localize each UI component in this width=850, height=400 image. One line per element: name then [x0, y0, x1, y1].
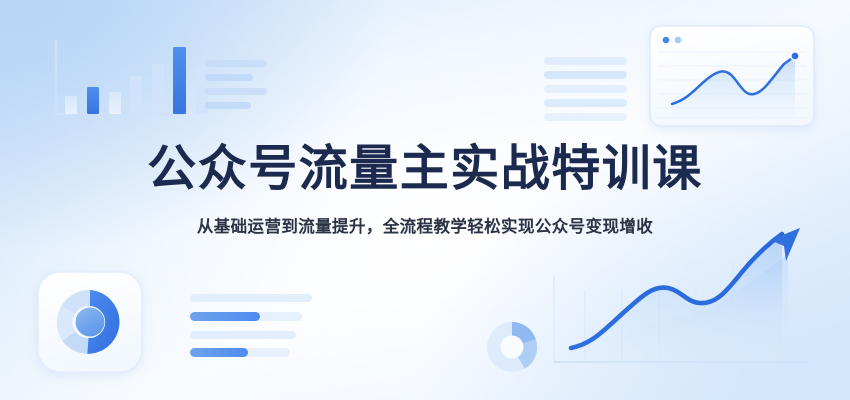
page-subtitle: 从基础运营到流量提升，全流程教学轻松实现公众号变现增收	[0, 213, 850, 237]
text-lines-top	[205, 60, 267, 109]
text-line	[205, 74, 253, 81]
card-endpoint-marker	[791, 52, 799, 60]
donut-icon-card	[38, 272, 142, 372]
progress-track	[190, 331, 296, 339]
text-line	[544, 57, 627, 65]
text-line	[544, 113, 627, 121]
mini-donut-hole	[501, 336, 524, 359]
page-title: 公众号流量主实战特训课	[0, 142, 850, 197]
text-line	[544, 71, 627, 79]
growth-arrow-chart	[554, 228, 806, 366]
donut-center	[76, 308, 105, 337]
bar-3	[109, 92, 121, 114]
window-dot-icon	[675, 37, 682, 44]
progress-track	[190, 294, 312, 302]
text-line	[205, 60, 267, 67]
growth-area-front	[571, 234, 782, 362]
progress-fill	[190, 312, 260, 321]
window-dot-icon	[663, 37, 670, 44]
course-banner: 公众号流量主实战特训课 从基础运营到流量提升，全流程教学轻松实现公众号变现增收	[0, 0, 850, 400]
bar-chart-widget	[56, 41, 208, 114]
bar-4	[130, 76, 142, 114]
line-chart-card	[650, 26, 814, 126]
text-line	[544, 85, 627, 93]
mini-donut	[487, 322, 537, 372]
text-lines-middle	[544, 57, 627, 121]
bar-6	[173, 47, 186, 114]
text-line	[205, 102, 251, 109]
progress-fill	[190, 348, 248, 357]
banner-text-block: 公众号流量主实战特训课 从基础运营到流量提升，全流程教学轻松实现公众号变现增收	[0, 142, 850, 237]
progress-list	[190, 294, 312, 357]
text-line	[205, 88, 267, 95]
text-line	[544, 99, 627, 107]
bar-2	[87, 87, 99, 114]
bar-5	[152, 64, 164, 114]
bar-1	[65, 96, 77, 114]
